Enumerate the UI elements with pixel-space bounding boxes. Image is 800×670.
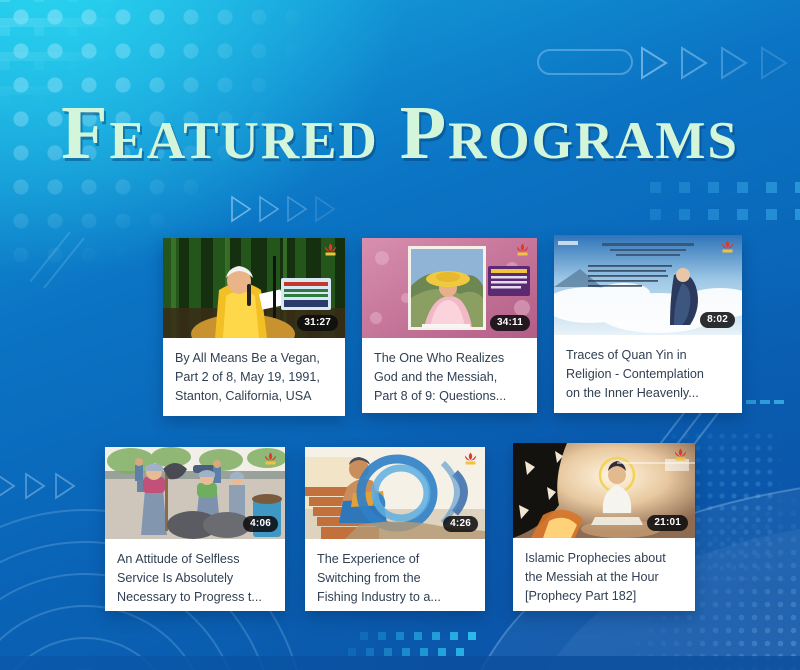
decor-square <box>420 648 428 656</box>
decor-square <box>0 0 10 2</box>
program-card[interactable]: 34:11 The One Who Realizes God and the M… <box>362 238 537 413</box>
thumbnail[interactable]: 34:11 <box>362 238 537 338</box>
card-title-line: Part 8 of 9: Questions... <box>374 387 525 406</box>
program-card[interactable]: 4:26 The Experience of Switching from th… <box>305 447 485 611</box>
card-title-line: Traces of Quan Yin in <box>566 346 730 365</box>
arrow-group-left-edge <box>0 470 94 502</box>
square-row-bottom-a <box>360 632 476 640</box>
decor-square <box>650 182 661 193</box>
decor-square <box>384 648 392 656</box>
duration-badge: 4:06 <box>243 516 278 532</box>
decor-dash <box>760 400 770 404</box>
duration-badge: 21:01 <box>647 515 688 531</box>
decor-square <box>34 26 44 36</box>
decor-square <box>650 209 661 220</box>
lotus-logo-icon <box>262 451 279 466</box>
program-card[interactable]: 21:01 Islamic Prophecies about the Messi… <box>513 443 695 611</box>
card-title: Traces of Quan Yin in Religion - Contemp… <box>554 335 742 413</box>
lotus-logo-icon <box>462 451 479 466</box>
decor-square <box>450 632 458 640</box>
duration-badge: 31:27 <box>297 315 338 331</box>
decor-square <box>414 632 422 640</box>
thumbnail[interactable]: 31:27 <box>163 238 345 338</box>
decor-square <box>102 60 112 70</box>
decor-square <box>136 0 146 2</box>
program-card[interactable]: 4:06 An Attitude of Selfless Service Is … <box>105 447 285 611</box>
lotus-logo-icon <box>672 447 689 462</box>
decor-square <box>68 0 78 2</box>
decor-square <box>34 0 44 2</box>
duration-badge: 34:11 <box>490 315 530 331</box>
decor-square <box>438 648 446 656</box>
decor-square <box>708 209 719 220</box>
thumbnail[interactable]: 4:26 <box>305 447 485 539</box>
duration-badge: 4:26 <box>443 516 478 532</box>
decor-square <box>456 648 464 656</box>
card-title-line: Service Is Absolutely <box>117 569 273 588</box>
program-card[interactable]: 31:27 By All Means Be a Vegan, Part 2 of… <box>163 238 345 416</box>
card-title-line: The One Who Realizes <box>374 349 525 368</box>
decor-square <box>348 648 356 656</box>
pill-outline-decoration <box>537 49 633 75</box>
decor-square <box>0 26 10 36</box>
decor-square <box>136 26 146 36</box>
card-title-line: the Messiah at the Hour <box>525 568 683 587</box>
decor-square <box>737 209 748 220</box>
decor-square <box>170 26 180 36</box>
thumbnail[interactable]: 4:06 <box>105 447 285 539</box>
decor-square <box>360 632 368 640</box>
decor-square <box>432 632 440 640</box>
card-title-line: By All Means Be a Vegan, <box>175 349 333 368</box>
card-title: An Attitude of Selfless Service Is Absol… <box>105 539 285 611</box>
featured-programs-banner: Featured Programs <box>0 0 800 670</box>
decor-square <box>0 60 10 70</box>
decor-square <box>136 60 146 70</box>
duration-badge: 8:02 <box>700 312 735 328</box>
lotus-logo-icon <box>514 242 531 257</box>
thumbnail[interactable]: 21:01 <box>513 443 695 538</box>
square-grid-right <box>650 182 800 220</box>
decor-square <box>468 632 476 640</box>
card-title-line: [Prophecy Part 182] <box>525 587 683 606</box>
thumbnail[interactable]: 8:02 <box>554 235 742 335</box>
decor-square <box>402 648 410 656</box>
decor-square <box>766 209 777 220</box>
decor-square <box>68 60 78 70</box>
card-title-line: God and the Messiah, <box>374 368 525 387</box>
decor-square <box>34 60 44 70</box>
decor-square <box>366 648 374 656</box>
decor-square <box>795 209 800 220</box>
card-title: The One Who Realizes God and the Messiah… <box>362 338 537 413</box>
square-row-bottom-b <box>348 648 464 656</box>
card-title: By All Means Be a Vegan, Part 2 of 8, Ma… <box>163 338 345 416</box>
card-title-line: An Attitude of Selfless <box>117 550 273 569</box>
decor-square <box>378 632 386 640</box>
card-title-line: Islamic Prophecies about <box>525 549 683 568</box>
decor-square <box>170 0 180 2</box>
card-title-line: on the Inner Heavenly... <box>566 384 730 403</box>
decor-square <box>737 182 748 193</box>
card-title: The Experience of Switching from the Fis… <box>305 539 485 611</box>
page-title: Featured Programs <box>0 90 800 177</box>
card-title-line: Part 2 of 8, May 19, 1991, <box>175 368 333 387</box>
card-title-line: The Experience of <box>317 550 473 569</box>
decor-square <box>68 26 78 36</box>
lotus-logo-icon <box>719 239 736 254</box>
decor-square <box>102 26 112 36</box>
decor-square <box>766 182 777 193</box>
arrow-group-top-right <box>640 44 800 82</box>
decor-dash <box>746 400 756 404</box>
lotus-logo-icon <box>322 242 339 257</box>
decor-square <box>679 209 690 220</box>
card-title-line: Switching from the <box>317 569 473 588</box>
decor-square <box>708 182 719 193</box>
card-title: Islamic Prophecies about the Messiah at … <box>513 538 695 611</box>
arrow-group-mid-left <box>230 194 340 224</box>
program-card[interactable]: 8:02 Traces of Quan Yin in Religion - Co… <box>554 235 742 413</box>
card-title-line: Stanton, California, USA <box>175 387 333 406</box>
decor-square <box>396 632 404 640</box>
decor-square <box>679 182 690 193</box>
card-title-line: Religion - Contemplation <box>566 365 730 384</box>
card-title-line: Fishing Industry to a... <box>317 588 473 607</box>
decor-square <box>795 182 800 193</box>
decor-square <box>102 0 112 2</box>
decor-dash <box>774 400 784 404</box>
card-title-line: Necessary to Progress t... <box>117 588 273 607</box>
diagonal-hatch-left <box>30 232 120 292</box>
bottom-band <box>0 656 800 670</box>
